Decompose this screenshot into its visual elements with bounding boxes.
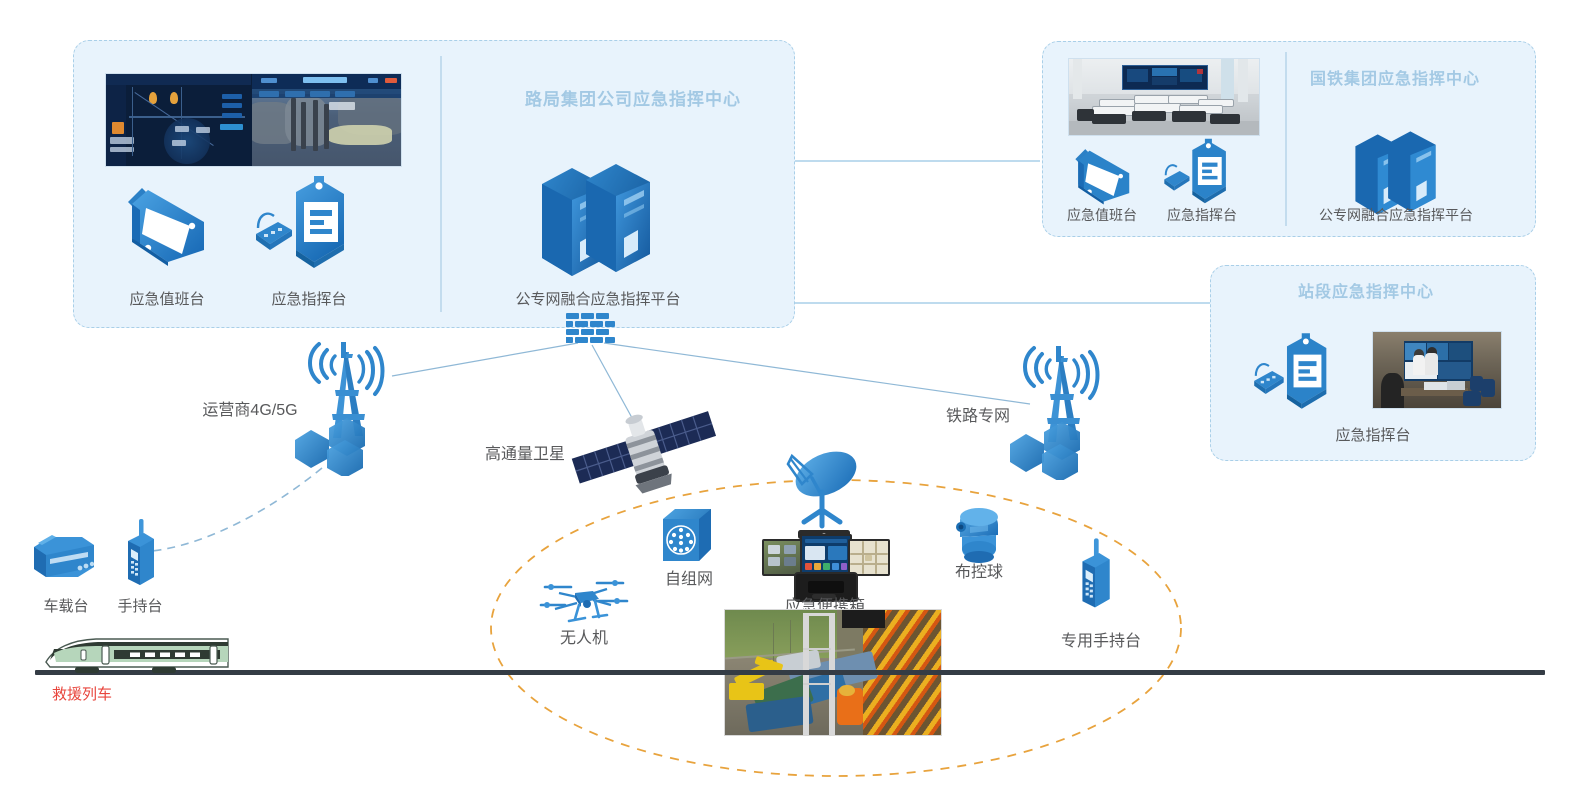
panel-national-divider	[1285, 52, 1287, 226]
node-satellite-dish[interactable]	[778, 448, 864, 530]
handheld-radio-icon	[118, 519, 162, 589]
node-station-command-console[interactable]	[1248, 330, 1344, 412]
label-dedicated-handheld: 专用手持台	[1046, 627, 1156, 651]
duty-console-icon	[1064, 142, 1142, 206]
node-portable-case[interactable]	[762, 530, 886, 600]
label-bureau-platform: 公专网融合应急指挥平台	[488, 288, 708, 309]
node-satellite[interactable]	[568, 405, 718, 495]
node-bureau-duty-console[interactable]	[112, 178, 222, 268]
node-bureau-command-console[interactable]	[252, 172, 362, 272]
case-screen-left	[762, 539, 804, 576]
node-handheld-radio[interactable]	[118, 519, 162, 589]
ptz-camera-icon	[950, 505, 1008, 565]
vehicle-radio-icon	[30, 533, 98, 585]
command-console-icon	[1158, 136, 1242, 206]
node-firewall[interactable]	[566, 313, 616, 347]
label-ptz-camera: 布控球	[935, 558, 1023, 582]
label-handheld-radio: 手持台	[96, 595, 184, 616]
label-rescue-train: 救援列车	[52, 683, 144, 704]
bureau-dashboard-screens	[105, 73, 402, 167]
label-bureau-command-console: 应急指挥台	[247, 288, 371, 309]
screen-right-site	[252, 74, 401, 166]
label-carrier-network: 运营商4G/5G	[190, 396, 310, 420]
rail-line	[35, 670, 1545, 675]
server-rack-icon	[528, 160, 668, 280]
label-mesh-network: 自组网	[645, 565, 733, 589]
panel-station-title: 站段应急指挥中心	[1298, 278, 1434, 302]
node-rescue-train[interactable]	[44, 636, 234, 676]
node-drone[interactable]	[537, 575, 633, 631]
node-vehicle-radio[interactable]	[30, 533, 98, 585]
duty-console-icon	[112, 178, 222, 268]
command-console-icon	[252, 172, 362, 272]
label-national-command-console: 应急指挥台	[1140, 205, 1264, 225]
national-command-room-photo	[1068, 58, 1260, 136]
diagram-canvas: 路局集团公司应急指挥中心	[0, 0, 1578, 801]
satellite-dish-icon	[778, 448, 864, 530]
screen-left-map	[106, 74, 251, 166]
rescue-train-icon	[44, 636, 234, 676]
node-national-duty-console[interactable]	[1064, 142, 1142, 206]
panel-bureau-divider	[440, 56, 442, 312]
firewall-brick-icon	[566, 313, 616, 347]
handheld-radio-icon	[1072, 538, 1118, 612]
node-bureau-platform[interactable]	[528, 160, 668, 280]
mesh-network-icon	[657, 505, 721, 569]
case-screen-right	[848, 539, 890, 576]
label-national-platform: 公专网融合应急指挥平台	[1296, 205, 1496, 225]
panel-national-title: 国铁集团应急指挥中心	[1310, 65, 1480, 89]
node-mesh-network[interactable]	[657, 505, 721, 569]
command-console-icon	[1248, 330, 1344, 412]
label-drone: 无人机	[540, 624, 628, 648]
label-bureau-duty-console: 应急值班台	[105, 288, 229, 309]
node-ptz-camera[interactable]	[950, 505, 1008, 565]
station-command-room-photo	[1372, 331, 1502, 409]
label-satellite: 高通量卫星	[470, 440, 580, 464]
node-national-command-console[interactable]	[1158, 136, 1242, 206]
label-station-command-console: 应急指挥台	[1313, 424, 1433, 445]
drone-icon	[537, 575, 633, 631]
panel-bureau-title: 路局集团公司应急指挥中心	[525, 85, 741, 110]
label-railway-network: 铁路专网	[930, 402, 1026, 426]
node-dedicated-handheld[interactable]	[1072, 538, 1118, 612]
satellite-icon	[568, 405, 718, 495]
